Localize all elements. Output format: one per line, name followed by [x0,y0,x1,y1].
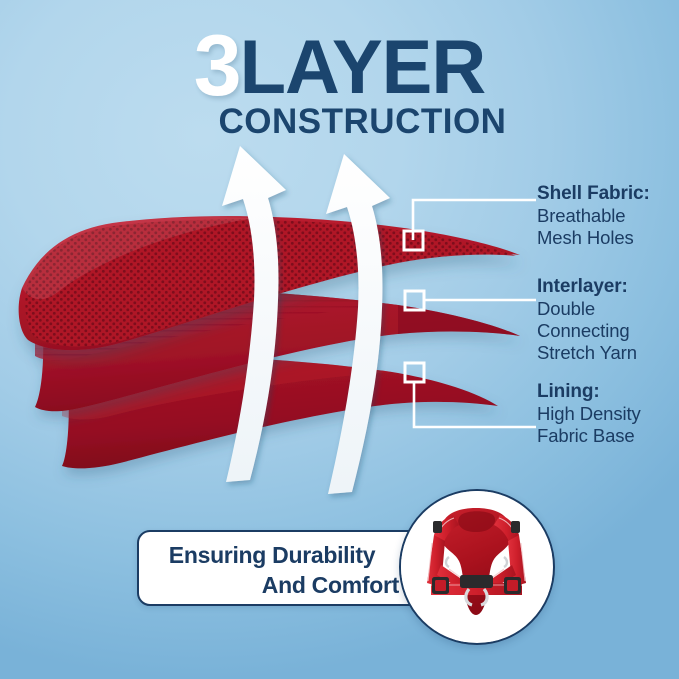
product-photo-circle [399,489,555,645]
callout-interlayer-heading: Interlayer: [537,276,637,298]
callout-interlayer-line2: Connecting [537,320,637,342]
callout-shell-line1: Breathable [537,205,650,227]
callout-connector-interlayer [405,291,536,310]
dog-harness-image [401,491,552,642]
callout-interlayer-line3: Stretch Yarn [537,342,637,364]
callout-lining: Lining: High Density Fabric Base [537,381,641,447]
harness-slider-left [433,521,442,533]
callout-lining-line1: High Density [537,403,641,425]
tagline-line-1: Ensuring Durability [137,540,399,570]
callout-lining-line2: Fabric Base [537,425,641,447]
callout-lining-heading: Lining: [537,381,641,403]
infographic-canvas: 3 LAYER CONSTRUCTION Shell Fabric: Breat… [0,0,679,679]
harness-slider-right [511,521,520,533]
callout-shell-heading: Shell Fabric: [537,183,650,205]
callout-interlayer-line1: Double [537,298,637,320]
tagline-line-2: And Comfort [137,570,399,600]
callout-shell-line2: Mesh Holes [537,227,650,249]
callout-interlayer: Interlayer: Double Connecting Stretch Ya… [537,276,637,363]
harness-center-clip [460,575,493,588]
callout-shell-fabric: Shell Fabric: Breathable Mesh Holes [537,183,650,249]
tagline-text: Ensuring Durability And Comfort [137,540,399,601]
